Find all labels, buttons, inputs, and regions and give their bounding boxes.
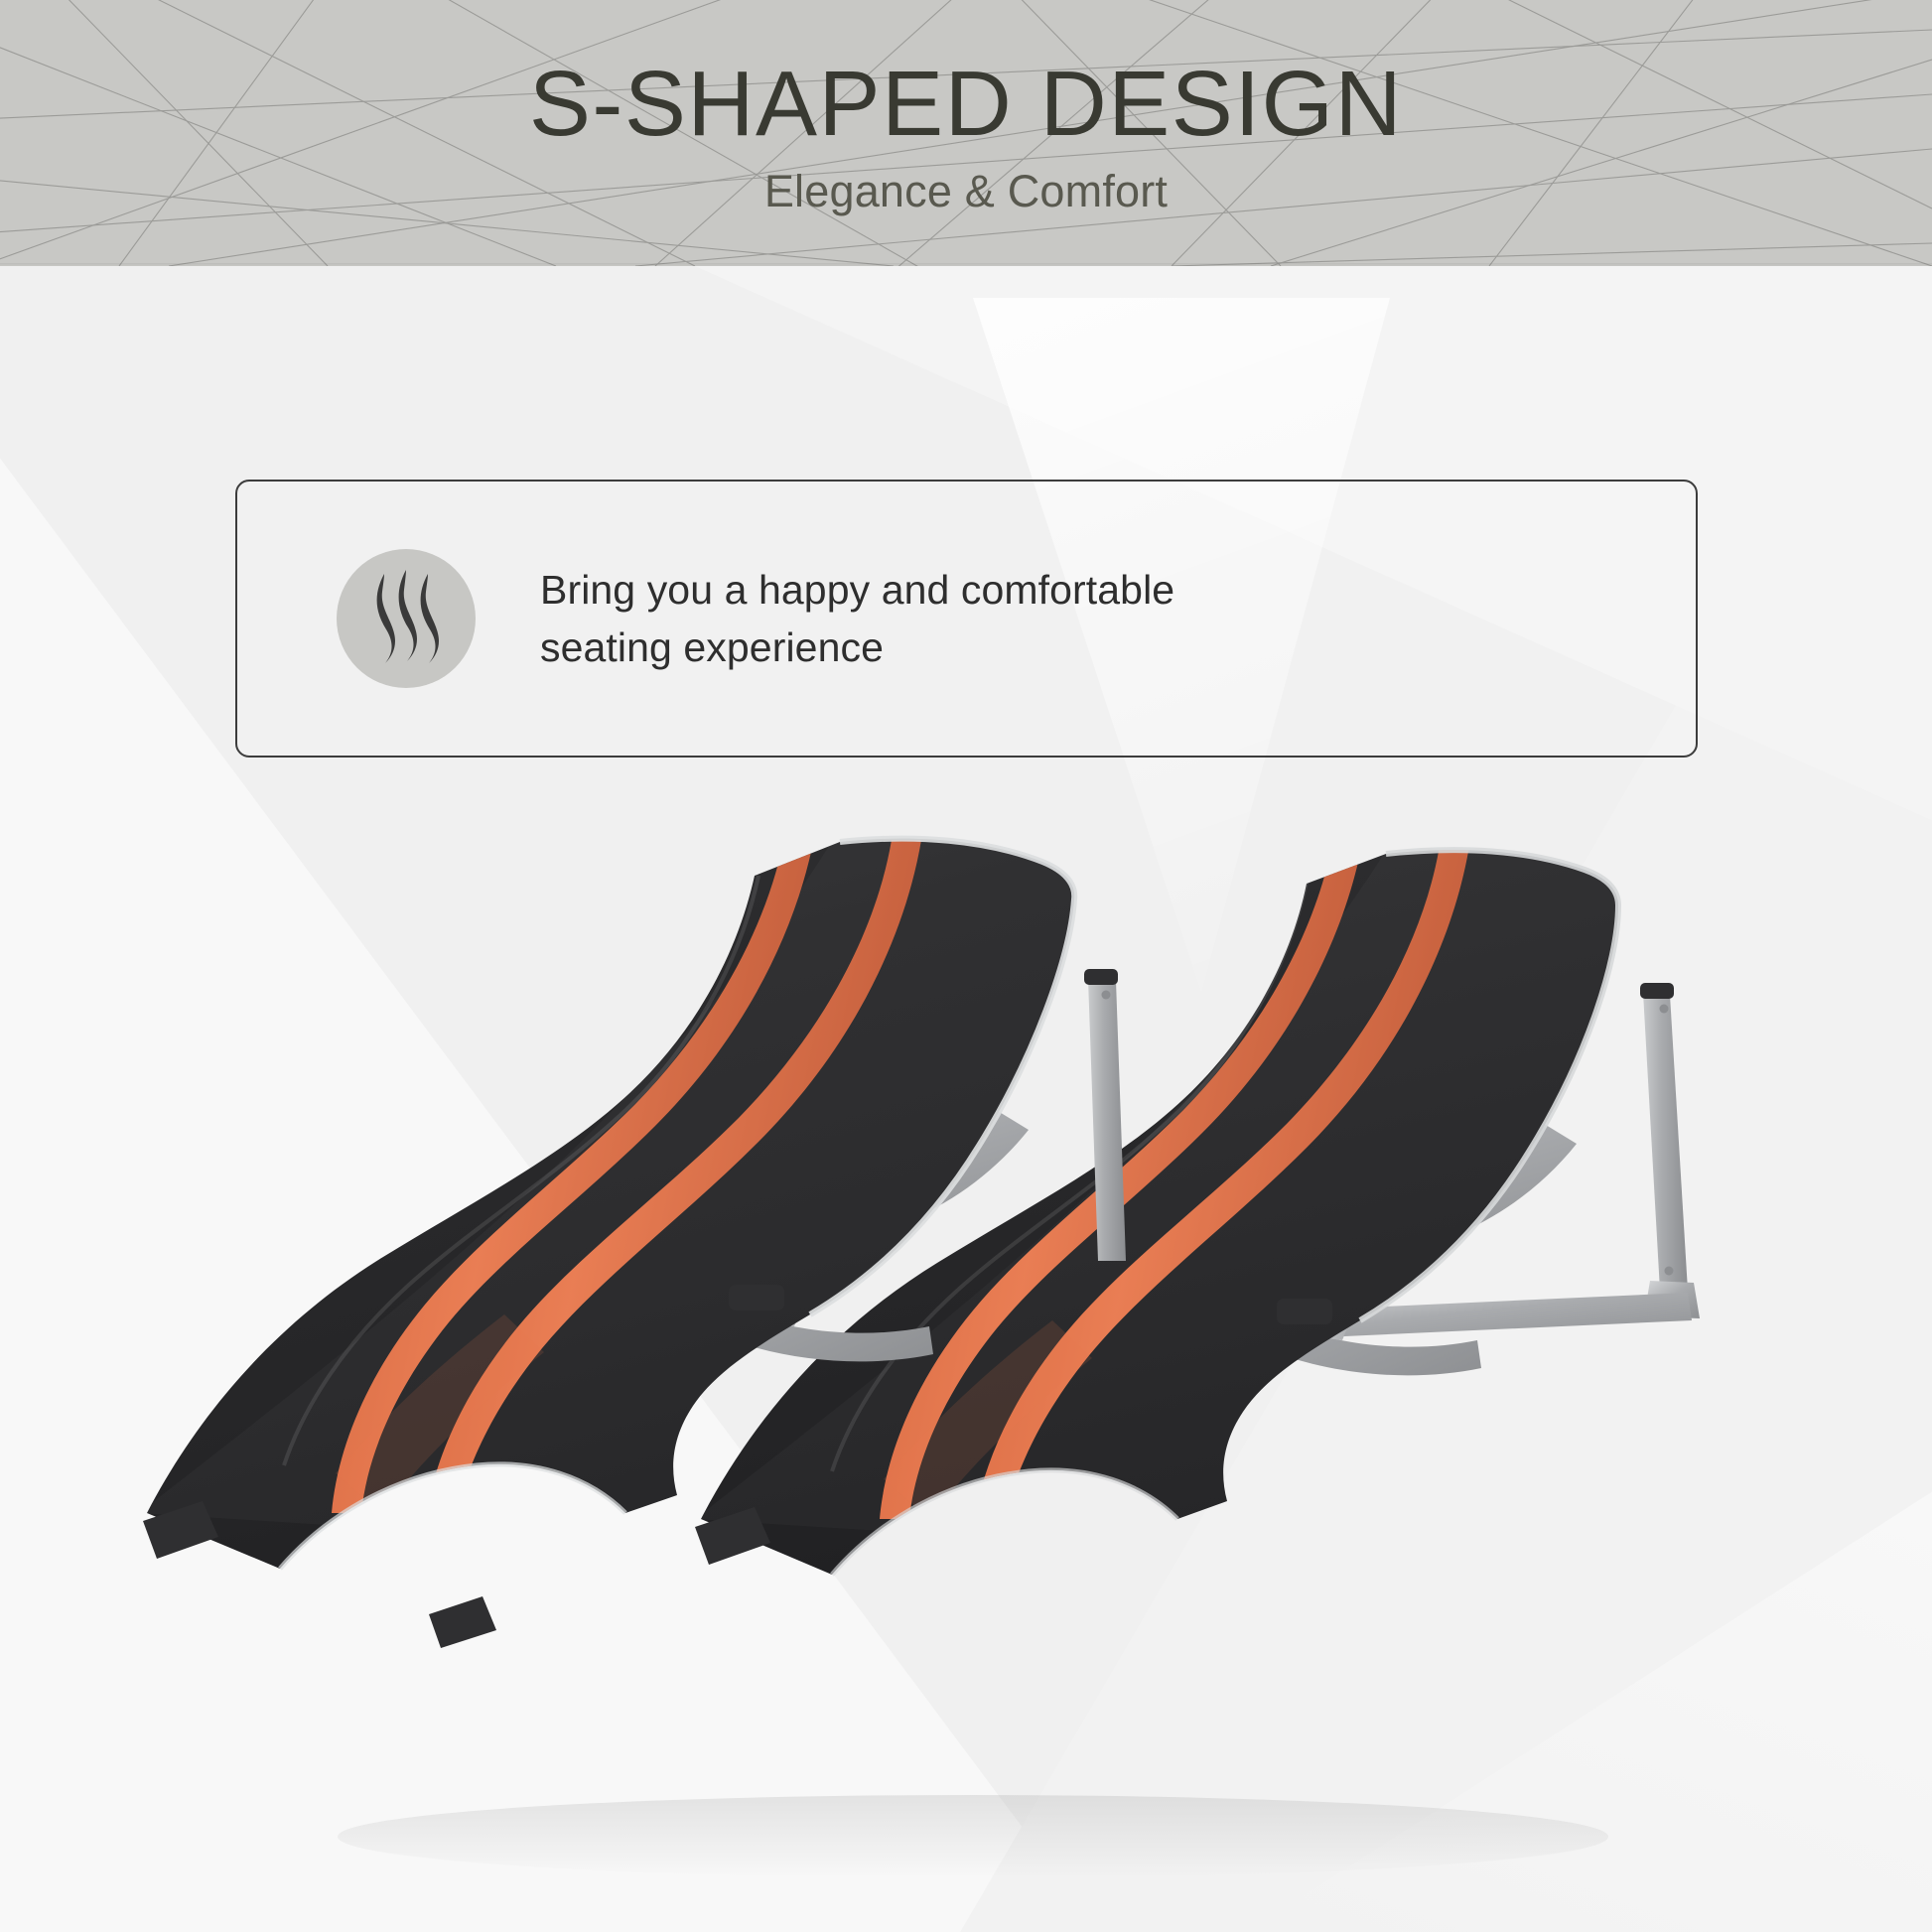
lounger-front-left: [129, 824, 1126, 1648]
page-title: S-SHAPED DESIGN: [529, 57, 1403, 151]
back-headrest-clip: [1277, 1299, 1332, 1324]
feature-description-line-2: seating experience: [540, 619, 1174, 676]
product-marketing-image: S-SHAPED DESIGN Elegance & Comfort Bring…: [0, 0, 1932, 1932]
feature-description-line-1: Bring you a happy and comfortable: [540, 561, 1174, 619]
lounger-pair-illustration: [0, 824, 1932, 1932]
floor-shadow: [338, 1795, 1608, 1878]
comfort-waves-icon-glyph: [360, 568, 452, 669]
front-headrest-clip: [729, 1285, 784, 1311]
page-subtitle: Elegance & Comfort: [764, 166, 1168, 217]
feature-card: Bring you a happy and comfortable seatin…: [235, 480, 1698, 758]
product-photo: [0, 824, 1932, 1932]
rear-support-leg: [1640, 983, 1700, 1318]
front-foot-cap-2: [429, 1596, 496, 1648]
header-banner: S-SHAPED DESIGN Elegance & Comfort: [0, 0, 1932, 266]
comfort-waves-icon: [337, 549, 476, 688]
feature-description: Bring you a happy and comfortable seatin…: [540, 561, 1174, 676]
